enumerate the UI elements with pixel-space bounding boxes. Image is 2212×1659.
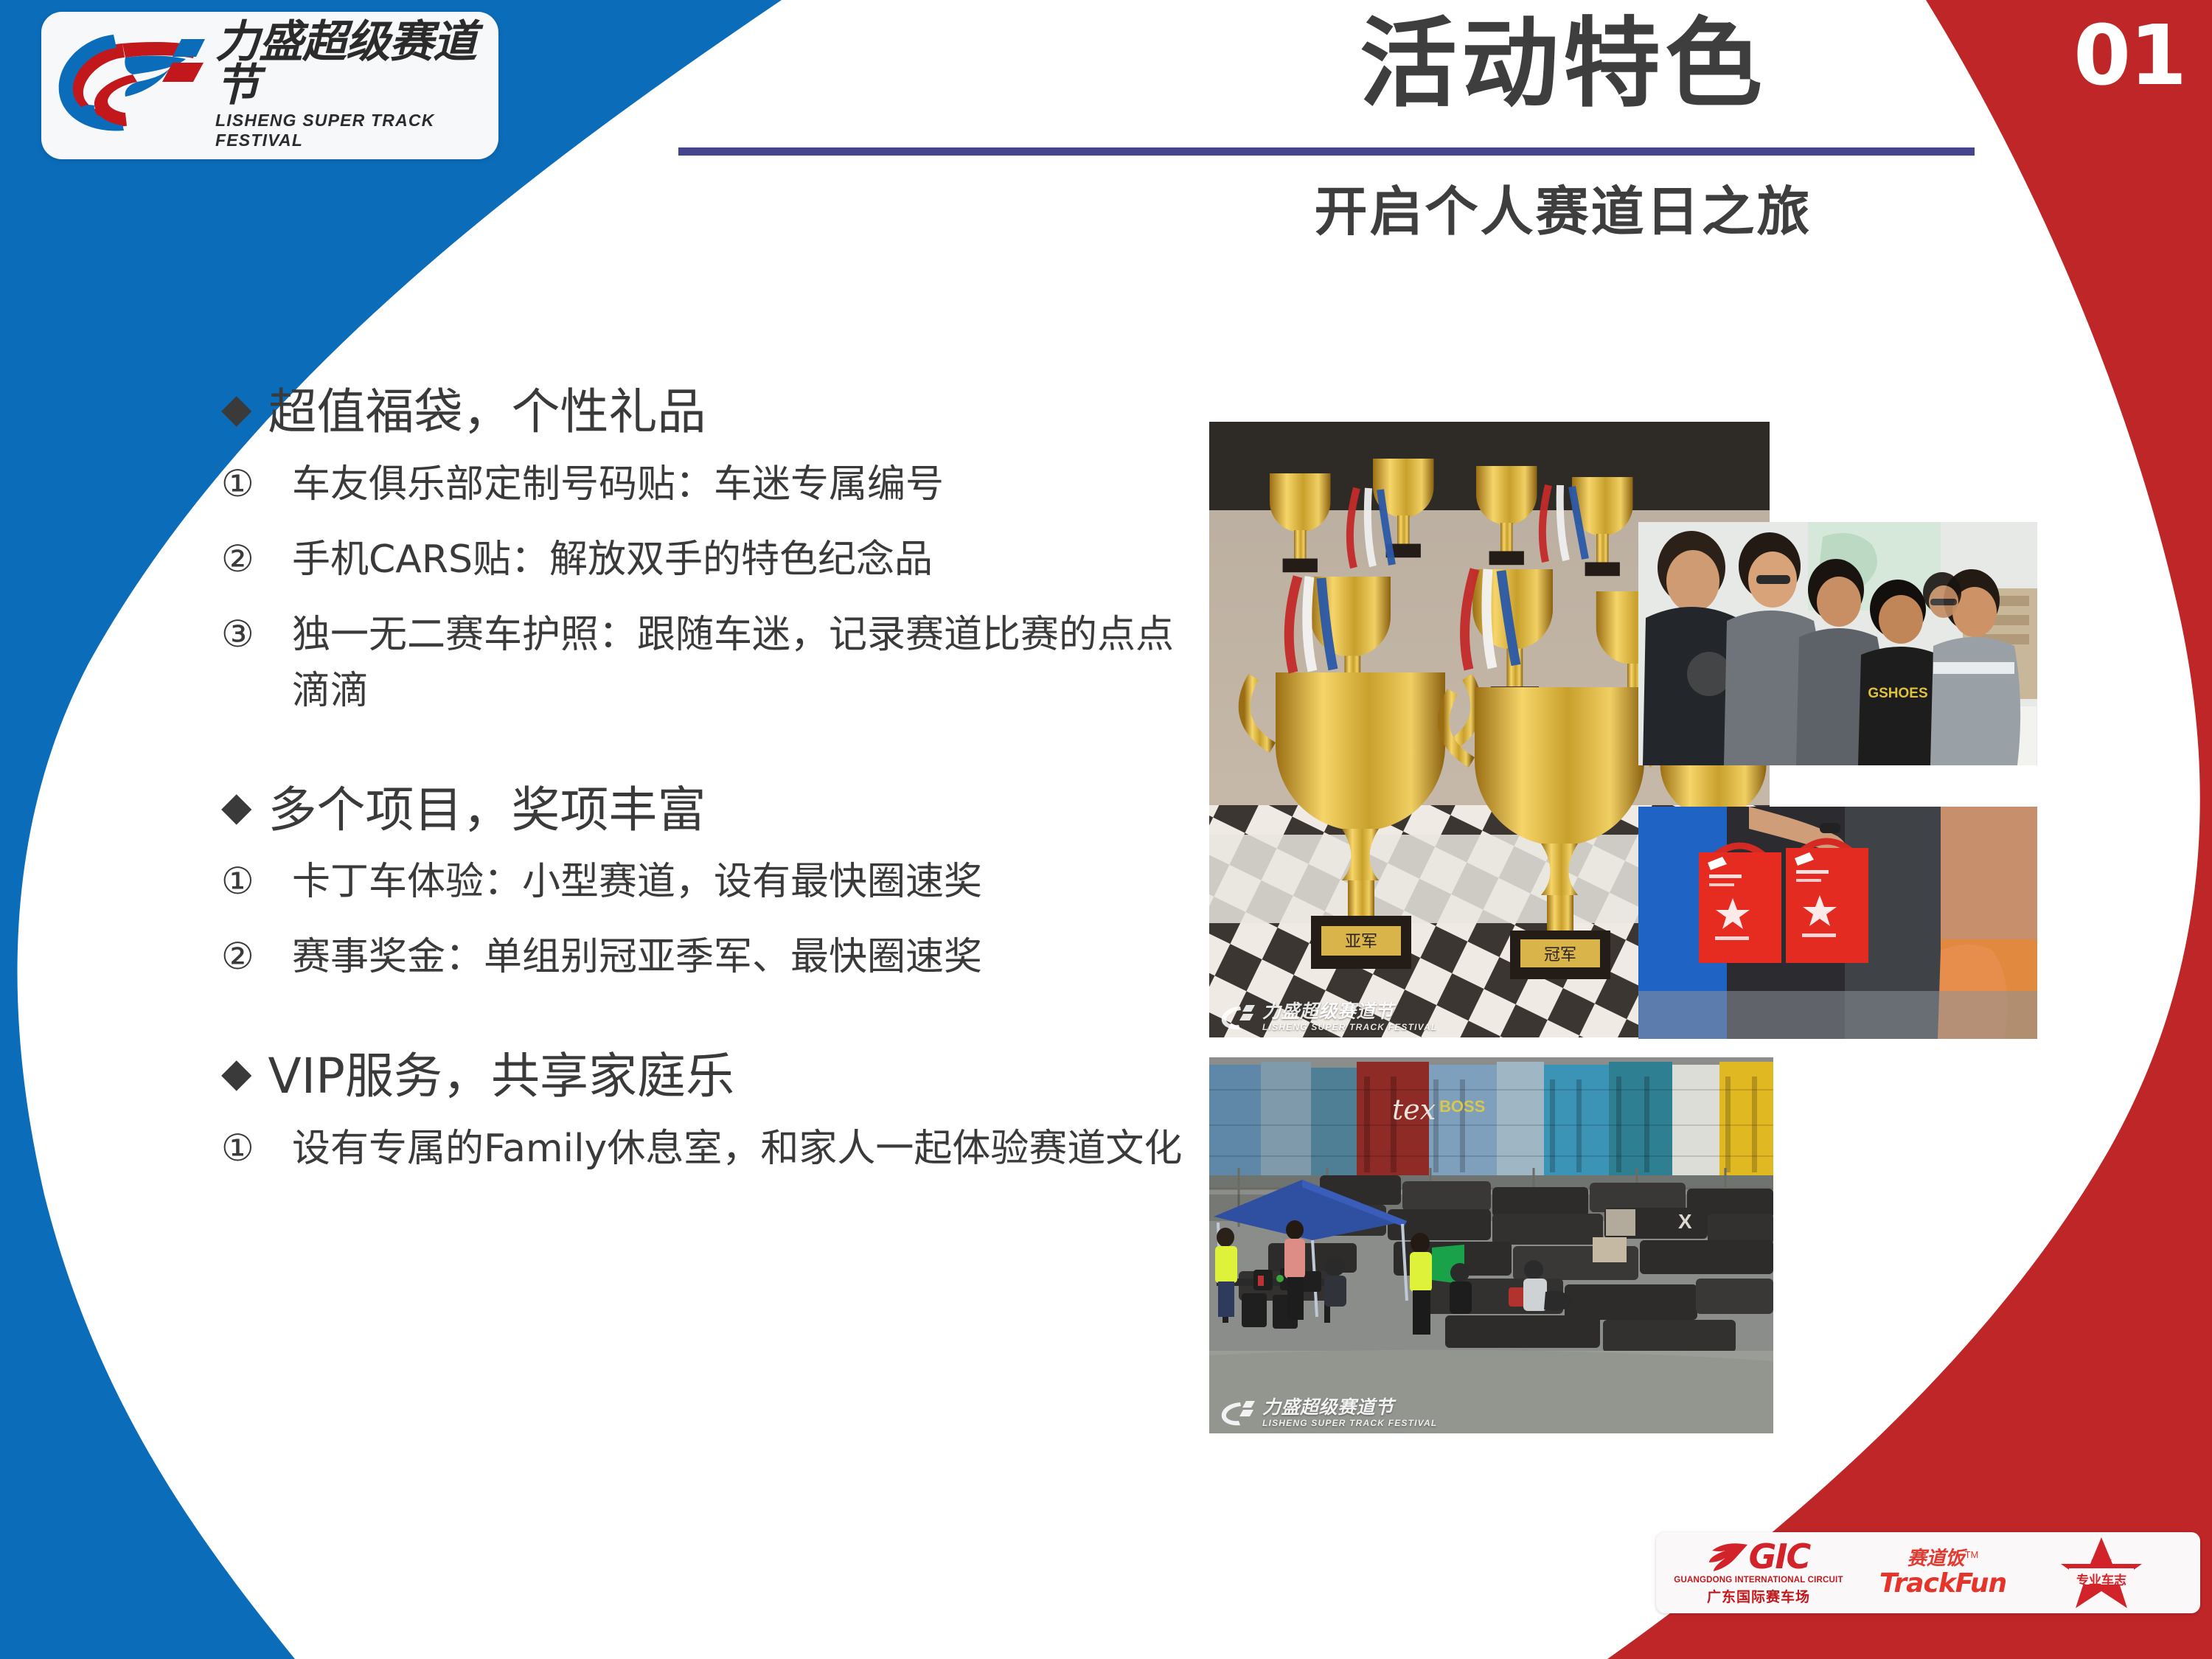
brand-logo-plate: 力盛超级赛道节 LISHENG SUPER TRACK FESTIVAL xyxy=(41,12,498,159)
flame-icon xyxy=(1708,1540,1749,1574)
feature-item: ③ 独一无二赛车护照：跟随车迷，记录赛道比赛的点点滴滴 xyxy=(221,608,1194,720)
diamond-bullet-icon: ◆ xyxy=(221,782,252,832)
diamond-bullet-icon: ◆ xyxy=(221,383,252,434)
feature-item-marker: ① xyxy=(221,1121,292,1175)
feature-group-vip: ◆ VIP服务，共享家庭乐 ① 设有专属的Family休息室，和家人一起体验赛道… xyxy=(221,1048,1194,1178)
photo-watermark-en: LISHENG SUPER TRACK FESTIVAL xyxy=(1262,1023,1437,1032)
title-divider-rule xyxy=(678,147,1975,156)
feature-group-heading-text: 多个项目，奖项丰富 xyxy=(268,782,706,839)
svg-text:BOSS: BOSS xyxy=(1439,1097,1485,1116)
brand-logo-cn: 力盛超级赛道节 xyxy=(215,21,498,108)
svg-text:冠军: 冠军 xyxy=(1544,946,1576,964)
feature-item-marker: ② xyxy=(221,930,292,984)
slide-number-badge: 01 xyxy=(2073,15,2185,97)
brand-logo-wordmark: 力盛超级赛道节 LISHENG SUPER TRACK FESTIVAL xyxy=(215,21,498,150)
lisheng-watermark-icon xyxy=(1218,1002,1258,1032)
feature-group-heading-text: 超值福袋，个性礼品 xyxy=(268,383,706,441)
trademark-icon: TM xyxy=(1965,1549,1979,1560)
diamond-bullet-icon: ◆ xyxy=(221,1048,252,1098)
feature-group-awards: ◆ 多个项目，奖项丰富 ① 卡丁车体验：小型赛道，设有最快圈速奖 ② 赛事奖金：… xyxy=(221,782,1194,987)
brand-logo-en: LISHENG SUPER TRACK FESTIVAL xyxy=(215,111,498,150)
trackfun-logo: 赛道饭 TM TrackFun xyxy=(1851,1549,2035,1597)
feature-group-heading: ◆ 超值福袋，个性礼品 xyxy=(221,383,1194,441)
feature-item-text: 设有专属的Family休息室，和家人一起体验赛道文化 xyxy=(292,1121,1194,1178)
zhuanye-chezhi-logo: 专业车志 专业车志 xyxy=(2035,1536,2168,1610)
feature-item-text: 手机CARS贴：解放双手的特色纪念品 xyxy=(292,532,1194,588)
lisheng-ls-mark-icon xyxy=(52,23,214,148)
feature-item: ① 卡丁车体验：小型赛道，设有最快圈速奖 xyxy=(221,855,1194,911)
gic-cn-text: 广东国际赛车场 xyxy=(1707,1586,1810,1606)
photo-watermark-cn: 力盛超级赛道节 xyxy=(1262,1002,1437,1020)
gic-en-text: GUANGDONG INTERNATIONAL CIRCUIT xyxy=(1674,1576,1843,1585)
feature-item-marker: ① xyxy=(221,457,292,511)
page-title: 活动特色 xyxy=(1150,13,1976,116)
trackfun-cn-text: 赛道饭 xyxy=(1907,1549,1965,1568)
feature-group-heading: ◆ 多个项目，奖项丰富 xyxy=(221,782,1194,839)
svg-text:X: X xyxy=(1678,1210,1692,1233)
gic-mark-text: GIC xyxy=(1749,1542,1810,1572)
trackfun-en-text: TrackFun xyxy=(1879,1571,2006,1597)
svg-text:GSHOES: GSHOES xyxy=(1868,686,1927,701)
photo-watermark: 力盛超级赛道节 LISHENG SUPER TRACK FESTIVAL xyxy=(1218,1398,1437,1427)
feature-item-marker: ③ xyxy=(221,608,292,661)
feature-item: ② 手机CARS贴：解放双手的特色纪念品 xyxy=(221,532,1194,588)
feature-item: ① 车友俱乐部定制号码贴：车迷专属编号 xyxy=(221,457,1194,513)
feature-group-gift: ◆ 超值福袋，个性礼品 ① 车友俱乐部定制号码贴：车迷专属编号 ② 手机CARS… xyxy=(221,383,1194,720)
feature-item-text: 卡丁车体验：小型赛道，设有最快圈速奖 xyxy=(292,855,1194,911)
slide-canvas: 力盛超级赛道节 LISHENG SUPER TRACK FESTIVAL 活动特… xyxy=(0,0,2212,1659)
photo-watermark-en: LISHENG SUPER TRACK FESTIVAL xyxy=(1262,1419,1437,1427)
feature-item-text: 赛事奖金：单组别冠亚季军、最快圈速奖 xyxy=(292,930,1194,986)
feature-group-heading: ◆ VIP服务，共享家庭乐 xyxy=(221,1048,1194,1105)
kart-track-photo: tex BOSS xyxy=(1209,1057,1773,1433)
feature-item: ① 设有专属的Family休息室，和家人一起体验赛道文化 xyxy=(221,1121,1194,1178)
svg-text:tex: tex xyxy=(1392,1093,1436,1126)
photo-watermark: 力盛超级赛道节 LISHENG SUPER TRACK FESTIVAL xyxy=(1218,1002,1437,1032)
gic-logo: GIC GUANGDONG INTERNATIONAL CIRCUIT 广东国际… xyxy=(1666,1540,1851,1606)
sponsor-bar: GIC GUANGDONG INTERNATIONAL CIRCUIT 广东国际… xyxy=(1656,1532,2200,1613)
star-top-text: 专业车志 xyxy=(2059,1558,2144,1565)
svg-text:亚军: 亚军 xyxy=(1345,933,1377,951)
feature-item-marker: ② xyxy=(221,532,292,586)
photo-watermark-cn: 力盛超级赛道节 xyxy=(1262,1398,1437,1416)
gift-bags-photo xyxy=(1638,807,2037,1039)
feature-item-marker: ① xyxy=(221,855,292,908)
feature-item-text: 车友俱乐部定制号码贴：车迷专属编号 xyxy=(292,457,1194,513)
feature-list: ◆ 超值福袋，个性礼品 ① 车友俱乐部定制号码贴：车迷专属编号 ② 手机CARS… xyxy=(221,383,1194,1197)
registration-photo: GSHOES xyxy=(1638,522,2037,765)
star-label-text: 专业车志 xyxy=(2059,1570,2144,1588)
feature-item-text: 独一无二赛车护照：跟随车迷，记录赛道比赛的点点滴滴 xyxy=(292,608,1194,720)
page-subtitle: 开启个人赛道日之旅 xyxy=(1150,168,1976,246)
feature-group-heading-text: VIP服务，共享家庭乐 xyxy=(268,1048,734,1105)
lisheng-watermark-icon xyxy=(1218,1398,1258,1427)
feature-item: ② 赛事奖金：单组别冠亚季军、最快圈速奖 xyxy=(221,930,1194,986)
